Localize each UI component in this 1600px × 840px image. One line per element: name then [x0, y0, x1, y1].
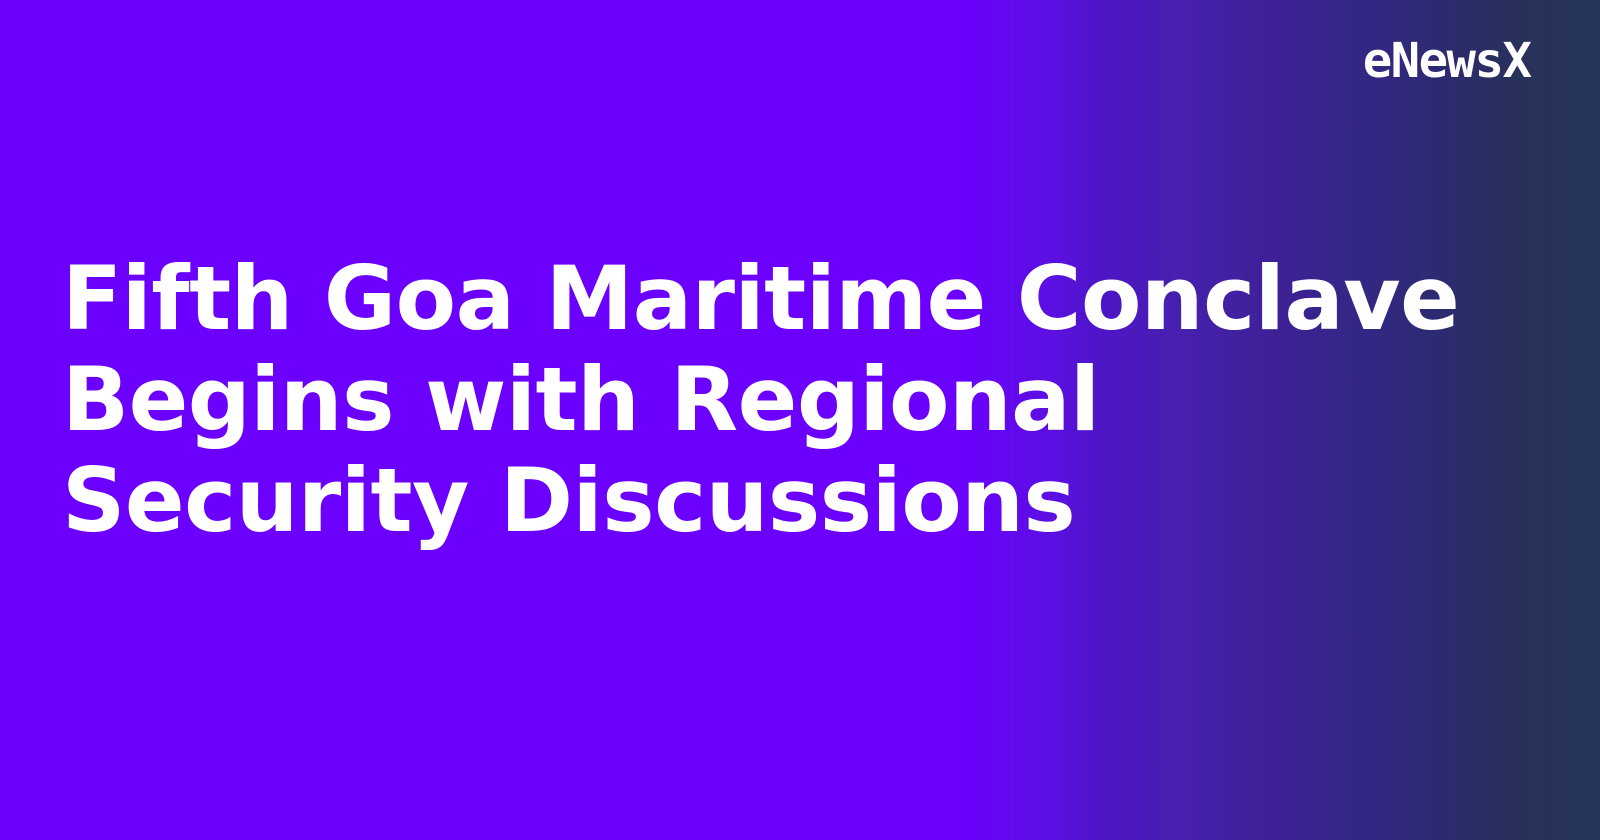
article-hero-banner: eNewsX Fifth Goa Maritime Conclave Begin… [0, 0, 1600, 840]
brand-logo-text: eNewsX [1362, 37, 1530, 85]
article-headline: Fifth Goa Maritime Conclave Begins with … [62, 248, 1487, 551]
brand-logo[interactable]: eNewsX [1366, 30, 1530, 92]
headline-container: Fifth Goa Maritime Conclave Begins with … [62, 248, 1487, 551]
